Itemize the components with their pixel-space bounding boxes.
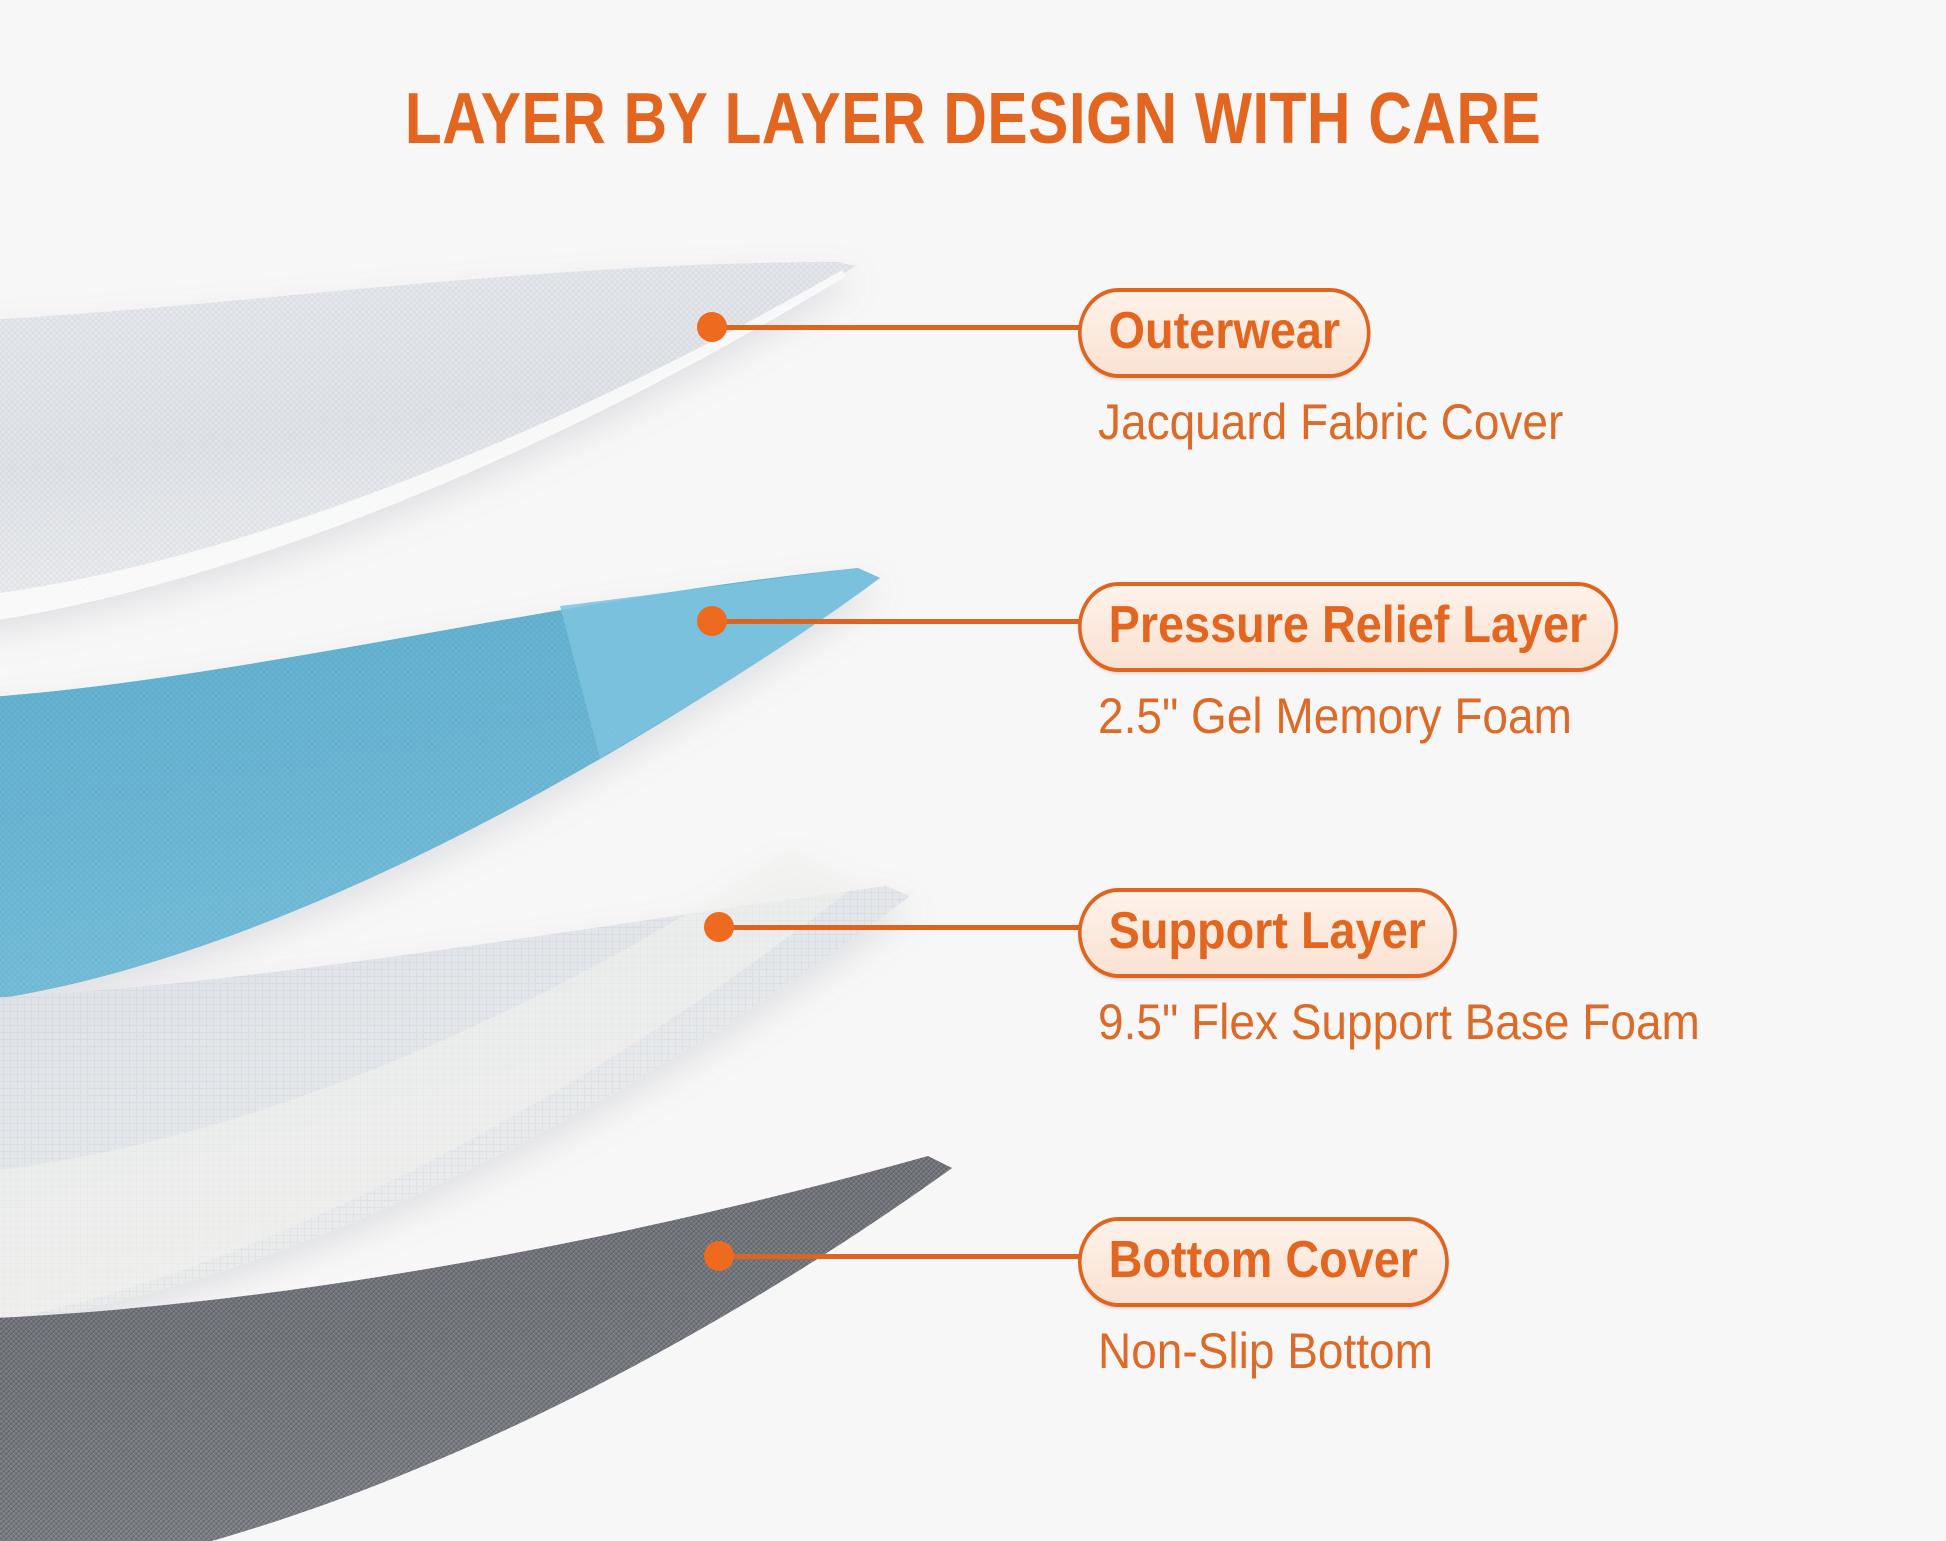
leader-dot-4	[704, 1241, 734, 1271]
leader-dot-2	[697, 606, 727, 636]
badge-outerwear[interactable]: Outerwear	[1078, 288, 1371, 378]
callout-outerwear: Outerwear Jacquard Fabric Cover	[1078, 288, 1604, 449]
badge-pressure-relief-layer[interactable]: Pressure Relief Layer	[1078, 582, 1618, 672]
badge-bottom-cover[interactable]: Bottom Cover	[1078, 1217, 1449, 1307]
callout-pressure-relief-layer: Pressure Relief Layer 2.5" Gel Memory Fo…	[1078, 582, 1678, 743]
layer-design-infographic: LAYER BY LAYER DESIGN WITH CARE	[0, 0, 1946, 1541]
leader-dot-1	[697, 312, 727, 342]
callout-support-layer: Support Layer 9.5" Flex Support Base Foa…	[1078, 888, 1752, 1049]
leader-line-1	[712, 325, 1082, 330]
subtitle-support-layer: 9.5" Flex Support Base Foam	[1098, 996, 1700, 1049]
leader-line-3	[719, 925, 1082, 930]
leader-line-4	[719, 1254, 1082, 1259]
badge-support-layer[interactable]: Support Layer	[1078, 888, 1456, 978]
subtitle-bottom-cover: Non-Slip Bottom	[1098, 1325, 1458, 1378]
layer-jacquard-fabric-cover	[0, 262, 856, 628]
leader-dot-3	[704, 912, 734, 942]
subtitle-pressure-relief-layer: 2.5" Gel Memory Foam	[1098, 690, 1631, 743]
leader-line-2	[712, 619, 1082, 624]
callout-bottom-cover: Bottom Cover Non-Slip Bottom	[1078, 1217, 1490, 1378]
subtitle-outerwear: Jacquard Fabric Cover	[1098, 396, 1563, 449]
mattress-layers-illustration	[0, 0, 1946, 1541]
